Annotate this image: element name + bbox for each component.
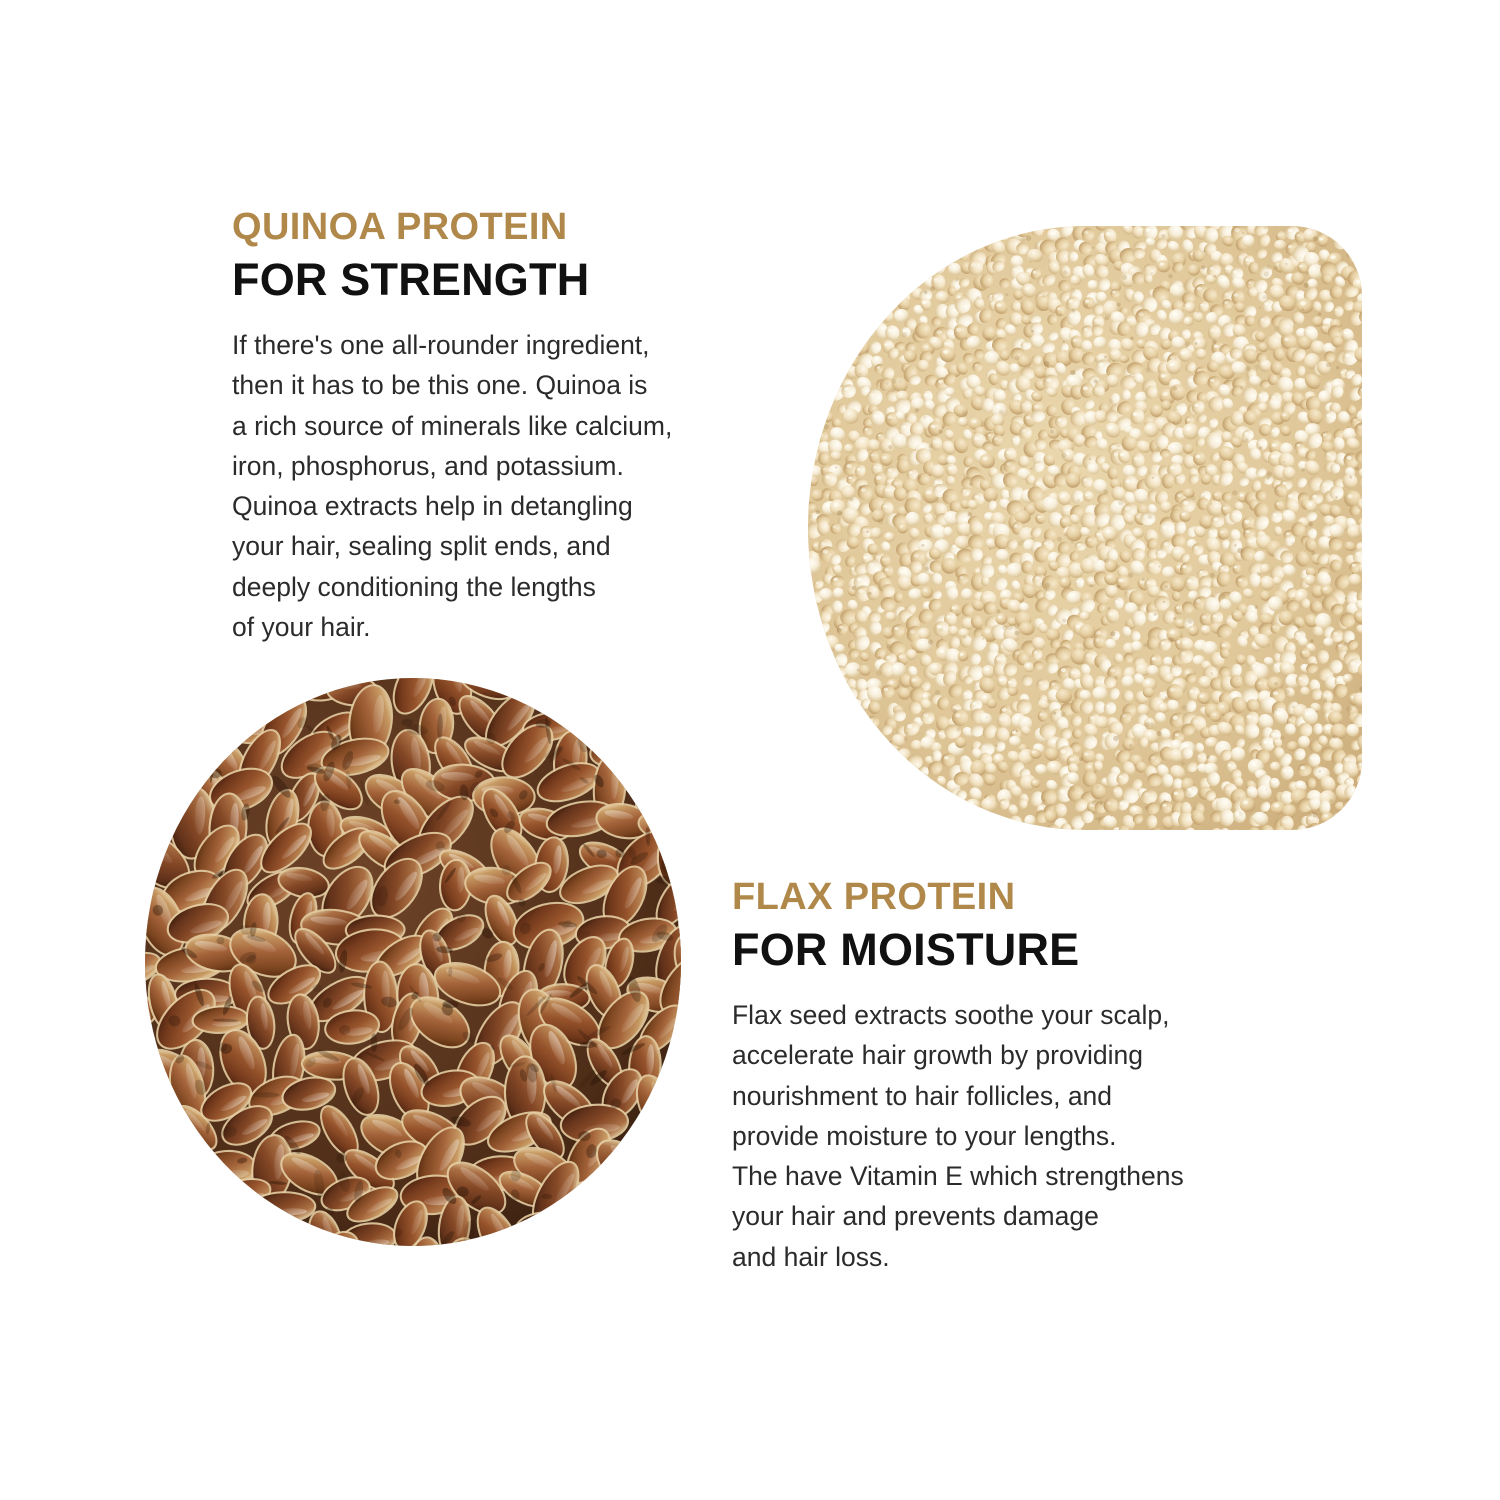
body-line: If there's one all-rounder ingredient, xyxy=(232,325,712,365)
flax-headline: FOR MOISTURE xyxy=(732,926,1232,973)
infographic-page: QUINOA PROTEIN FOR STRENGTH If there's o… xyxy=(0,0,1500,1500)
body-line: your hair and prevents damage xyxy=(732,1196,1232,1236)
body-line: accelerate hair growth by providing xyxy=(732,1035,1232,1075)
body-line: a rich source of minerals like calcium, xyxy=(232,406,712,446)
body-line: provide moisture to your lengths. xyxy=(732,1116,1232,1156)
body-line: nourishment to hair follicles, and xyxy=(732,1076,1232,1116)
body-line: The have Vitamin E which strengthens xyxy=(732,1156,1232,1196)
quinoa-text-block: QUINOA PROTEIN FOR STRENGTH If there's o… xyxy=(232,208,712,647)
quinoa-body-copy: If there's one all-rounder ingredient, t… xyxy=(232,325,712,647)
body-line: Quinoa extracts help in detangling xyxy=(232,486,712,526)
body-line: iron, phosphorus, and potassium. xyxy=(232,446,712,486)
quinoa-eyebrow: QUINOA PROTEIN xyxy=(232,208,712,248)
body-line: and hair loss. xyxy=(732,1237,1232,1277)
body-line: deeply conditioning the lengths xyxy=(232,567,712,607)
quinoa-headline: FOR STRENGTH xyxy=(232,256,712,303)
flax-seeds-photo xyxy=(145,678,681,1246)
body-line: Flax seed extracts soothe your scalp, xyxy=(732,995,1232,1035)
body-line: of your hair. xyxy=(232,607,712,647)
body-line: then it has to be this one. Quinoa is xyxy=(232,365,712,405)
body-line: your hair, sealing split ends, and xyxy=(232,526,712,566)
flax-eyebrow: FLAX PROTEIN xyxy=(732,878,1232,918)
quinoa-seeds-photo xyxy=(808,226,1362,830)
flax-body-copy: Flax seed extracts soothe your scalp, ac… xyxy=(732,995,1232,1277)
flax-text-block: FLAX PROTEIN FOR MOISTURE Flax seed extr… xyxy=(732,878,1232,1277)
